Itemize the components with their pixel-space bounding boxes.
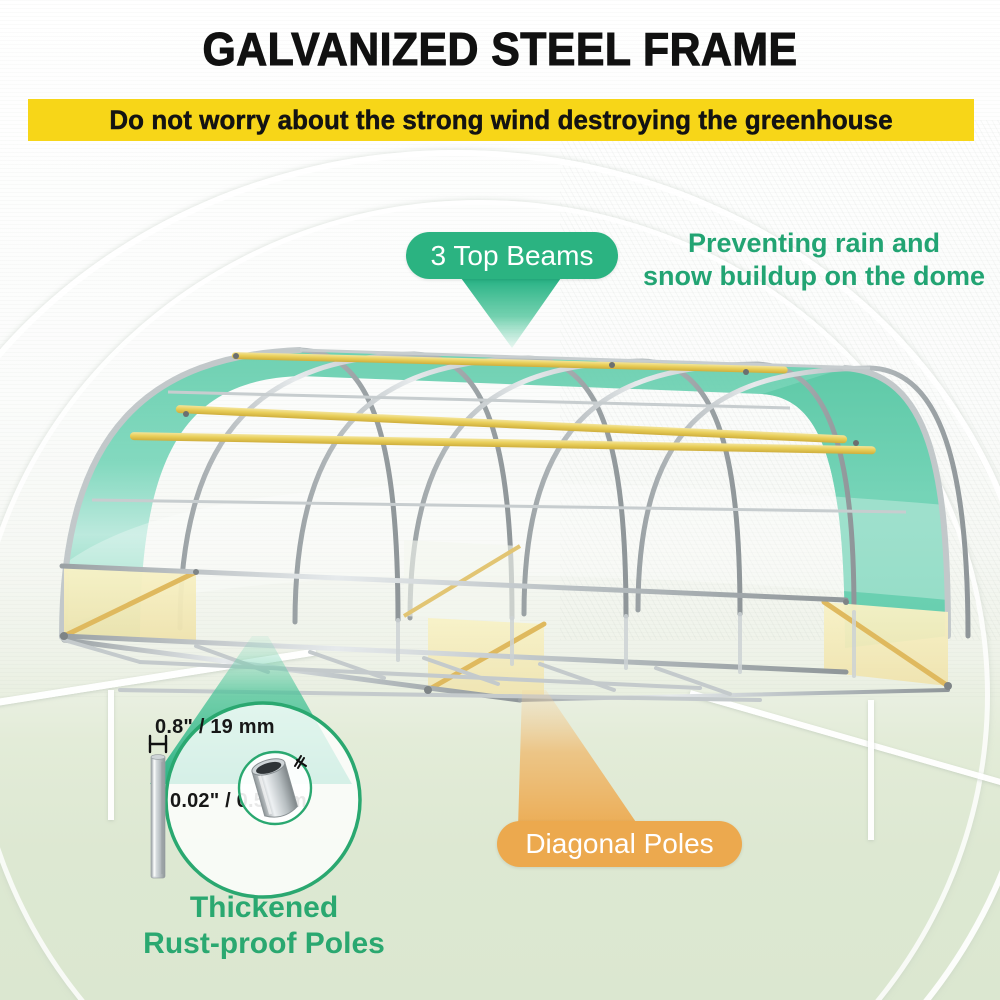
beam-connector-2: [609, 362, 615, 368]
pole-top-cap: [151, 755, 165, 760]
diagonal-poles-pointer-cone: [518, 690, 640, 828]
caption-poles-line2: Rust-proof Poles: [96, 926, 432, 962]
note-rain-snow-line2: snow buildup on the dome: [634, 260, 994, 293]
callout-top-beams[interactable]: 3 Top Beams: [406, 232, 618, 279]
beam-connector-1: [233, 353, 239, 359]
joint-5: [424, 686, 432, 694]
ground-cross-5: [656, 668, 730, 694]
callout-top-beams-label: 3 Top Beams: [431, 240, 594, 272]
callout-diagonal-poles[interactable]: Diagonal Poles: [497, 821, 742, 867]
joint-4: [944, 682, 952, 690]
caption-poles-detail: Thickened Rust-proof Poles: [96, 890, 432, 962]
note-rain-snow-line1: Preventing rain and: [634, 227, 994, 260]
note-rain-snow: Preventing rain and snow buildup on the …: [634, 227, 994, 293]
joint-3: [843, 599, 849, 605]
dimension-bracket-icon: [150, 736, 166, 752]
joint-2: [193, 569, 199, 575]
beam-connector-3: [743, 369, 749, 375]
pole-body: [151, 756, 165, 878]
poles-detail-graphics: [118, 700, 408, 900]
ground-cross-4: [540, 664, 614, 690]
tube-cross-section-icon: [239, 752, 311, 824]
callout-diagonal-poles-label: Diagonal Poles: [525, 828, 713, 860]
joint-1: [60, 632, 68, 640]
beam-connector-4: [183, 411, 189, 417]
caption-poles-line1: Thickened: [96, 890, 432, 926]
top-beams-pointer-cone: [461, 278, 561, 348]
pole-icon: [151, 755, 165, 878]
beam-connector-5: [853, 440, 859, 446]
infographic-page: GALVANIZED STEEL FRAME Do not worry abou…: [0, 0, 1000, 1000]
